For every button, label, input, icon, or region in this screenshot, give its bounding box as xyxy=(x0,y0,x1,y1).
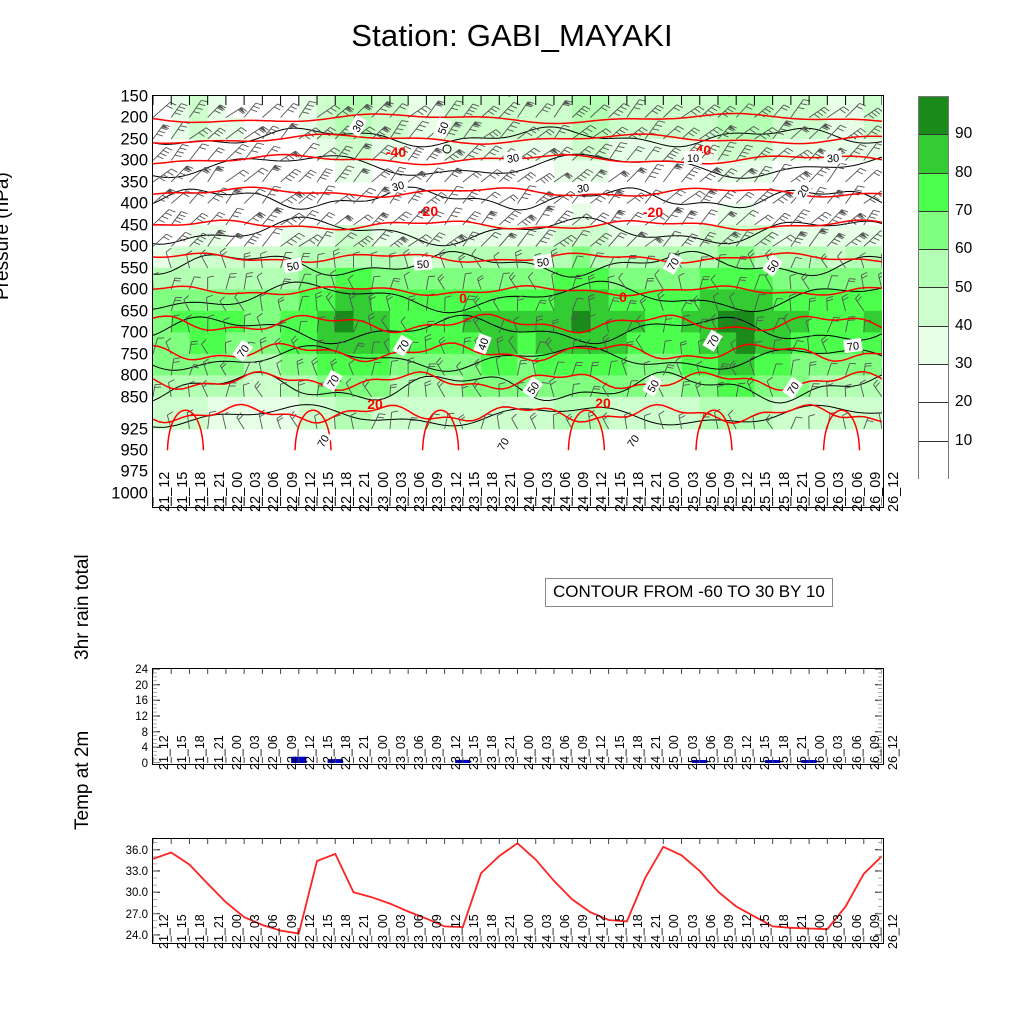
rain-axis-label: 3hr rain total xyxy=(72,554,94,660)
svg-text:-20: -20 xyxy=(418,203,438,219)
rain-tick-label: 24 xyxy=(135,664,148,676)
time-tick-label: 24_09 xyxy=(576,914,590,949)
pressure-axis-label: Pressure (hPa) xyxy=(0,172,14,300)
time-tick-label: 21_15 xyxy=(175,735,189,770)
time-tick-label: 25_09 xyxy=(722,914,736,949)
time-tick-label: 26_06 xyxy=(850,914,864,949)
colorbar-tick-label: 80 xyxy=(955,164,972,182)
pressure-tick-label: 700 xyxy=(120,324,148,343)
svg-text:0: 0 xyxy=(619,289,627,305)
time-tick-label: 23_21 xyxy=(503,914,517,949)
time-tick-label: 24_18 xyxy=(631,914,645,949)
pressure-tick-label: 300 xyxy=(120,152,148,171)
svg-text:20: 20 xyxy=(595,395,611,411)
time-tick-label: 23_03 xyxy=(394,472,410,512)
rain-tick-label: 20 xyxy=(135,680,148,692)
time-tick-label: 21_15 xyxy=(175,914,189,949)
colorbar-band[interactable] xyxy=(919,365,948,403)
svg-text:0: 0 xyxy=(459,290,467,306)
pressure-tick-label: 550 xyxy=(120,259,148,278)
time-tick-label: 25_21 xyxy=(795,735,809,770)
time-tick-label: 24_15 xyxy=(613,472,629,512)
time-tick-label: 23_00 xyxy=(376,914,390,949)
time-tick-label: 26_06 xyxy=(850,735,864,770)
rain-tick-label: 0 xyxy=(142,758,148,770)
time-tick-label: 22_18 xyxy=(339,735,353,770)
cross-section-time-axis: 21_1221_1521_1821_2122_0022_0322_0622_09… xyxy=(152,512,884,582)
time-tick-label: 24_18 xyxy=(631,472,647,512)
pressure-tick-label: 925 xyxy=(120,420,148,439)
time-tick-label: 21_21 xyxy=(212,735,226,770)
svg-text:20: 20 xyxy=(367,396,383,412)
colorbar-tick-label: 10 xyxy=(955,432,972,450)
time-tick-label: 23_03 xyxy=(394,735,408,770)
time-tick-label: 22_21 xyxy=(357,735,371,770)
colorbar-tick-label: 30 xyxy=(955,355,972,373)
time-tick-label: 26_12 xyxy=(886,735,900,770)
time-tick-label: 22_12 xyxy=(303,735,317,770)
temp-tick-label: 30.0 xyxy=(126,887,148,899)
time-tick-label: 24_15 xyxy=(613,735,627,770)
time-tick-label: 23_12 xyxy=(449,735,463,770)
time-tick-label: 21_12 xyxy=(157,472,173,512)
time-tick-label: 23_15 xyxy=(467,472,483,512)
time-tick-label: 23_00 xyxy=(376,735,390,770)
time-tick-label: 21_15 xyxy=(175,472,191,512)
time-tick-label: 24_00 xyxy=(522,914,536,949)
page-title: Station: GABI_MAYAKI xyxy=(0,18,1024,54)
cross-section-panel[interactable]: -40-40-20-200020203050301030303020505050… xyxy=(152,95,884,508)
time-tick-label: 25_06 xyxy=(704,735,718,770)
time-tick-label: 23_18 xyxy=(485,914,499,949)
colorbar-tick-label: 70 xyxy=(955,202,972,220)
time-tick-label: 25_15 xyxy=(758,735,772,770)
time-tick-label: 25_15 xyxy=(758,472,774,512)
time-tick-label: 24_09 xyxy=(576,472,592,512)
svg-text:50: 50 xyxy=(286,260,300,274)
time-tick-label: 22_03 xyxy=(248,472,264,512)
time-tick-label: 26_03 xyxy=(831,472,847,512)
time-tick-label: 25_21 xyxy=(795,472,811,512)
time-tick-label: 26_09 xyxy=(868,914,882,949)
time-tick-label: 26_12 xyxy=(886,472,902,512)
time-tick-label: 26_06 xyxy=(850,472,866,512)
contour-caption: CONTOUR FROM -60 TO 30 BY 10 xyxy=(545,578,833,607)
time-tick-label: 26_03 xyxy=(831,914,845,949)
colorbar-band[interactable] xyxy=(919,442,948,480)
time-tick-label: 23_06 xyxy=(412,914,426,949)
pressure-tick-label: 1000 xyxy=(111,484,148,503)
time-tick-label: 23_21 xyxy=(503,735,517,770)
time-tick-label: 25_18 xyxy=(777,914,791,949)
pressure-tick-label: 975 xyxy=(120,463,148,482)
temp-axis-ticks: 24.027.030.033.036.0 xyxy=(100,838,148,944)
pressure-tick-label: 650 xyxy=(120,302,148,321)
pressure-tick-label: 350 xyxy=(120,173,148,192)
time-tick-label: 26_00 xyxy=(813,472,829,512)
pressure-tick-label: 750 xyxy=(120,345,148,364)
humidity-colorbar-ticks: 908070605040302010 xyxy=(955,96,1015,479)
time-tick-label: 25_03 xyxy=(686,472,702,512)
time-tick-label: 24_12 xyxy=(594,472,610,512)
time-tick-label: 23_12 xyxy=(449,914,463,949)
temperature-line xyxy=(153,843,882,933)
colorbar-band[interactable] xyxy=(919,250,948,288)
time-tick-label: 25_12 xyxy=(740,735,754,770)
temp-tick-label: 33.0 xyxy=(126,866,148,878)
time-tick-label: 22_06 xyxy=(266,472,282,512)
time-tick-label: 24_21 xyxy=(649,472,665,512)
colorbar-tick-label: 90 xyxy=(955,125,972,143)
time-tick-label: 22_15 xyxy=(321,472,337,512)
rain-tick-label: 16 xyxy=(135,695,148,707)
time-tick-label: 25_09 xyxy=(722,472,738,512)
temp-tick-label: 36.0 xyxy=(126,845,148,857)
temp-tick-label: 27.0 xyxy=(126,909,148,921)
pressure-tick-label: 500 xyxy=(120,238,148,257)
time-tick-label: 25_03 xyxy=(686,914,700,949)
time-tick-label: 22_09 xyxy=(285,735,299,770)
pressure-tick-label: 950 xyxy=(120,442,148,461)
colorbar-tick-label: 40 xyxy=(955,317,972,335)
time-tick-label: 25_12 xyxy=(740,472,756,512)
colorbar-band[interactable] xyxy=(919,174,948,212)
colorbar-band[interactable] xyxy=(919,97,948,135)
colorbar-tick-label: 50 xyxy=(955,279,972,297)
colorbar-band[interactable] xyxy=(919,212,948,250)
svg-text:30: 30 xyxy=(576,182,590,196)
humidity-colorbar[interactable] xyxy=(918,96,949,479)
time-tick-label: 22_15 xyxy=(321,735,335,770)
time-tick-label: 21_12 xyxy=(157,914,171,949)
time-tick-label: 21_21 xyxy=(212,472,228,512)
time-tick-label: 22_15 xyxy=(321,914,335,949)
time-tick-label: 23_09 xyxy=(430,472,446,512)
time-tick-label: 25_18 xyxy=(777,472,793,512)
time-tick-label: 24_21 xyxy=(649,735,663,770)
time-tick-label: 24_03 xyxy=(540,914,554,949)
time-tick-label: 26_09 xyxy=(868,735,882,770)
time-tick-label: 22_21 xyxy=(357,914,371,949)
time-tick-label: 22_00 xyxy=(230,472,246,512)
temp-tick-label: 24.0 xyxy=(126,930,148,942)
time-tick-label: 23_09 xyxy=(430,735,444,770)
svg-text:50: 50 xyxy=(536,256,550,270)
pressure-tick-label: 200 xyxy=(120,109,148,128)
rain-axis-ticks: 04812162024 xyxy=(108,668,148,765)
time-tick-label: 26_00 xyxy=(813,914,827,949)
time-tick-label: 25_12 xyxy=(740,914,754,949)
meteogram-page: Station: GABI_MAYAKI Pressure (hPa) 1502… xyxy=(0,0,1024,1024)
svg-text:10: 10 xyxy=(687,153,699,165)
time-tick-label: 23_06 xyxy=(412,472,428,512)
colorbar-band[interactable] xyxy=(919,327,948,365)
time-tick-label: 26_09 xyxy=(868,472,884,512)
time-tick-label: 23_03 xyxy=(394,914,408,949)
pressure-tick-label: 150 xyxy=(120,88,148,107)
time-tick-label: 21_21 xyxy=(212,914,226,949)
time-tick-label: 24_18 xyxy=(631,735,645,770)
time-tick-label: 25_15 xyxy=(758,914,772,949)
time-tick-label: 21_18 xyxy=(193,472,209,512)
time-tick-label: 22_09 xyxy=(285,472,301,512)
time-tick-label: 22_12 xyxy=(303,914,317,949)
time-tick-label: 22_18 xyxy=(339,914,353,949)
time-tick-label: 23_00 xyxy=(376,472,392,512)
time-tick-label: 22_06 xyxy=(266,914,280,949)
time-tick-label: 24_03 xyxy=(540,735,554,770)
pressure-tick-label: 250 xyxy=(120,130,148,149)
time-tick-label: 24_09 xyxy=(576,735,590,770)
rain-time-axis: 21_1221_1521_1821_2122_0022_0322_0622_09… xyxy=(152,770,884,840)
pressure-tick-label: 400 xyxy=(120,195,148,214)
colorbar-band[interactable] xyxy=(919,288,948,326)
time-tick-label: 22_06 xyxy=(266,735,280,770)
time-tick-label: 24_06 xyxy=(558,472,574,512)
time-tick-label: 22_00 xyxy=(230,914,244,949)
temp-axis-label: Temp at 2m xyxy=(72,731,94,830)
time-tick-label: 25_00 xyxy=(667,914,681,949)
svg-text:70: 70 xyxy=(846,340,860,354)
rain-tick-label: 12 xyxy=(135,711,148,723)
time-tick-label: 21_18 xyxy=(193,914,207,949)
time-tick-label: 25_06 xyxy=(704,472,720,512)
time-tick-label: 24_03 xyxy=(540,472,556,512)
svg-text:-20: -20 xyxy=(643,204,663,220)
time-tick-label: 23_18 xyxy=(485,735,499,770)
time-tick-label: 23_21 xyxy=(503,472,519,512)
time-tick-label: 24_12 xyxy=(594,735,608,770)
time-tick-label: 26_03 xyxy=(831,735,845,770)
time-tick-label: 23_18 xyxy=(485,472,501,512)
time-tick-label: 22_18 xyxy=(339,472,355,512)
time-tick-label: 25_00 xyxy=(667,735,681,770)
pressure-tick-label: 450 xyxy=(120,216,148,235)
svg-text:30: 30 xyxy=(826,152,839,165)
time-tick-label: 26_12 xyxy=(886,914,900,949)
time-tick-label: 22_03 xyxy=(248,914,262,949)
time-tick-label: 23_12 xyxy=(449,472,465,512)
cross-section-plot: -40-40-20-200020203050301030303020505050… xyxy=(153,96,882,506)
time-tick-label: 24_21 xyxy=(649,914,663,949)
time-tick-label: 25_18 xyxy=(777,735,791,770)
rain-axis-ticks xyxy=(153,669,882,763)
pressure-tick-label: 850 xyxy=(120,388,148,407)
rain-tick-label: 4 xyxy=(142,742,148,754)
time-tick-label: 26_00 xyxy=(813,735,827,770)
time-tick-label: 21_12 xyxy=(157,735,171,770)
time-tick-label: 24_06 xyxy=(558,914,572,949)
pressure-axis-ticks: 1502002503003504004505005506006507007508… xyxy=(100,95,148,508)
rain-tick-label: 8 xyxy=(142,727,148,739)
time-tick-label: 23_15 xyxy=(467,914,481,949)
time-tick-label: 23_06 xyxy=(412,735,426,770)
colorbar-band[interactable] xyxy=(919,403,948,441)
time-tick-label: 24_15 xyxy=(613,914,627,949)
colorbar-tick-label: 20 xyxy=(955,393,972,411)
time-tick-label: 25_00 xyxy=(667,472,683,512)
time-tick-label: 22_09 xyxy=(285,914,299,949)
temp-time-axis: 21_1221_1521_1821_2122_0022_0322_0622_09… xyxy=(152,949,884,1019)
time-tick-label: 22_03 xyxy=(248,735,262,770)
time-tick-label: 24_06 xyxy=(558,735,572,770)
svg-text:50: 50 xyxy=(416,258,429,271)
time-tick-label: 22_00 xyxy=(230,735,244,770)
time-tick-label: 25_06 xyxy=(704,914,718,949)
colorbar-band[interactable] xyxy=(919,135,948,173)
time-tick-label: 25_09 xyxy=(722,735,736,770)
pressure-tick-label: 800 xyxy=(120,367,148,386)
svg-text:30: 30 xyxy=(506,152,520,166)
time-tick-label: 25_03 xyxy=(686,735,700,770)
time-tick-label: 23_15 xyxy=(467,735,481,770)
svg-text:-40: -40 xyxy=(386,144,406,160)
time-tick-label: 24_00 xyxy=(522,472,538,512)
time-tick-label: 22_12 xyxy=(303,472,319,512)
time-tick-label: 23_09 xyxy=(430,914,444,949)
time-tick-label: 22_21 xyxy=(357,472,373,512)
time-tick-label: 24_12 xyxy=(594,914,608,949)
colorbar-tick-label: 60 xyxy=(955,240,972,258)
temp-line-chart xyxy=(153,839,882,942)
pressure-tick-label: 600 xyxy=(120,281,148,300)
time-tick-label: 25_21 xyxy=(795,914,809,949)
time-tick-label: 24_00 xyxy=(522,735,536,770)
time-tick-label: 21_18 xyxy=(193,735,207,770)
rain-bar-chart xyxy=(153,669,882,763)
